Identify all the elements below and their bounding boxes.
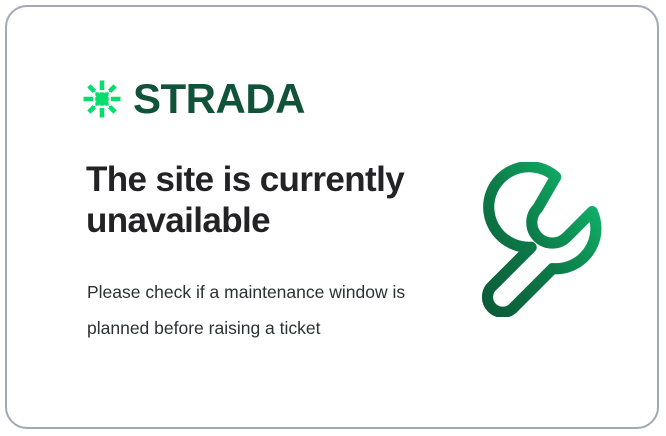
- brand-lockup: STRADA: [82, 73, 305, 125]
- asterisk-snowflake-icon: [82, 79, 122, 119]
- brand-wordmark: STRADA: [133, 78, 305, 120]
- page-title: The site is currently unavailable: [86, 159, 416, 242]
- page-description: Please check if a maintenance window is …: [87, 275, 407, 347]
- error-card: STRADA The site is currently unavailable…: [5, 5, 659, 429]
- wrench-icon: [462, 162, 617, 317]
- error-page-screen: STRADA The site is currently unavailable…: [0, 0, 666, 436]
